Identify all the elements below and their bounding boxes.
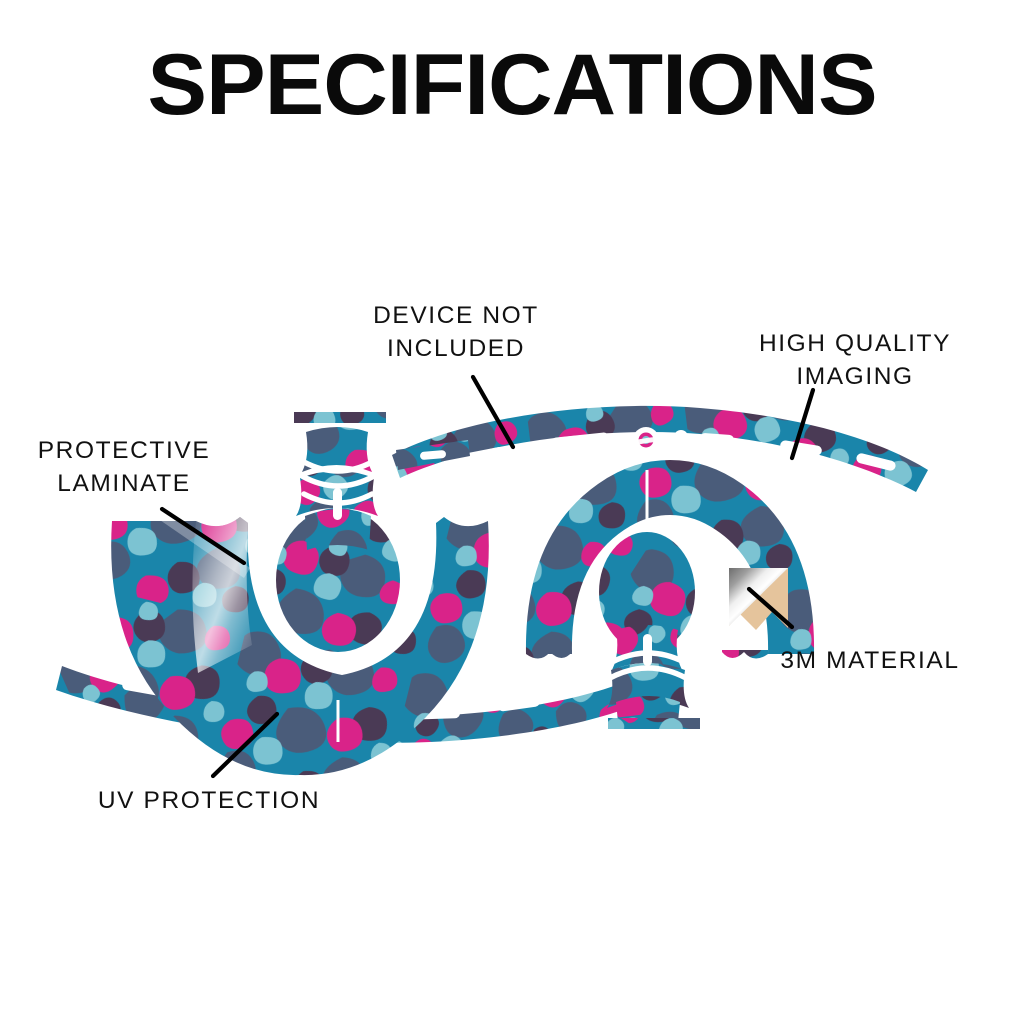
callout-label-device-not-included: DEVICE NOT INCLUDED: [306, 300, 606, 365]
specification-graphic: SPECIFICATIONS DEVICE NOT INCLUDED HIGH …: [0, 0, 1024, 1024]
callout-label-uv-protection: UV PROTECTION: [59, 785, 359, 818]
right-thin-bar: [608, 718, 700, 729]
right-small-shield: [607, 625, 689, 722]
skin-kit-artwork: [0, 0, 1024, 1024]
left-thin-bar: [294, 412, 386, 423]
callout-label-high-quality-imaging: HIGH QUALITY IMAGING: [712, 328, 998, 393]
callout-label-3m-material: 3M MATERIAL: [722, 645, 1018, 678]
page-title: SPECIFICATIONS: [0, 42, 1024, 128]
callout-label-protective-laminate: PROTECTIVE LAMINATE: [4, 435, 244, 500]
left-small-shield: [296, 427, 378, 550]
